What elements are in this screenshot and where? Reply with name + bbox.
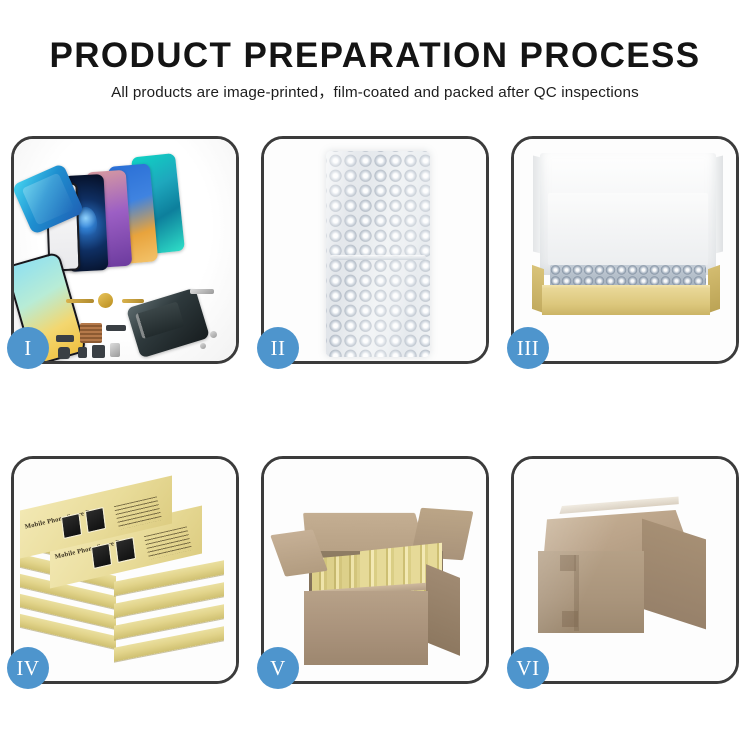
bubble-wrap-seam [330,255,426,260]
step-panel-2: II [261,136,489,364]
part-gold-coil [98,293,113,308]
step-panel-1: I [11,136,239,364]
part-copper-grid [80,323,102,343]
part-flex-cable-1 [66,299,94,303]
step-4-image: Mobile Phone Spare Parts Mobile Phone Sp… [14,459,236,681]
carton-front-face [304,591,428,665]
step-panel-3: III [511,136,739,364]
step-badge-3: III [507,327,549,369]
step-badge-4: IV [7,647,49,689]
part-screw-1 [210,331,217,338]
part-screw-2 [200,343,206,349]
process-steps-grid: I II [11,136,739,684]
open-carton-scene [264,459,486,681]
phone-screens-scene [14,139,236,361]
step-badge-2: II [257,327,299,369]
carton-side-face [426,564,460,656]
sealed-carton-right-face [642,519,706,630]
part-ribbon [106,325,126,331]
foam-sheet [548,193,708,265]
step-badge-6: VI [507,647,549,689]
step-2-image [264,139,486,361]
box-screen-graphic-1b [85,507,106,533]
part-speaker [58,347,70,359]
step-3-image [514,139,736,361]
step-5-image [264,459,486,681]
page-subtitle: All products are image-printed，film-coat… [0,83,750,103]
page-title: PRODUCT PREPARATION PROCESS [0,36,750,76]
part-camera-module [78,347,87,358]
box-screen-graphic-1a [61,513,82,539]
part-connector-1 [56,335,74,342]
step-panel-5: V [261,456,489,684]
step-badge-1: I [7,327,49,369]
sealed-carton-front-face [538,551,644,633]
step-panel-6: VI [511,456,739,684]
sealed-carton-scene [514,459,736,681]
step-badge-5: V [257,647,299,689]
step-panel-4: Mobile Phone Spare Parts Mobile Phone Sp… [11,456,239,684]
bubble-wrapped-phone [326,151,430,357]
open-inner-box-scene [514,139,736,361]
sealed-carton-tab-bottom [562,611,578,627]
box-base-front [542,289,710,315]
header: PRODUCT PREPARATION PROCESS All products… [0,36,750,103]
step-1-image [14,139,236,361]
part-flex-cable-2 [122,299,144,303]
stacked-boxes-scene: Mobile Phone Spare Parts Mobile Phone Sp… [14,459,236,681]
box-screen-graphic-2b [115,537,136,563]
box-screen-graphic-2a [91,543,112,569]
step-6-image [514,459,736,681]
product-preparation-infographic: PRODUCT PREPARATION PROCESS All products… [0,0,750,750]
bubble-wrap-scene [264,139,486,361]
sealed-carton-tab-top [560,555,576,571]
part-tweezers [190,289,214,294]
part-battery-connector [110,343,120,357]
part-taptic-engine [92,345,105,358]
